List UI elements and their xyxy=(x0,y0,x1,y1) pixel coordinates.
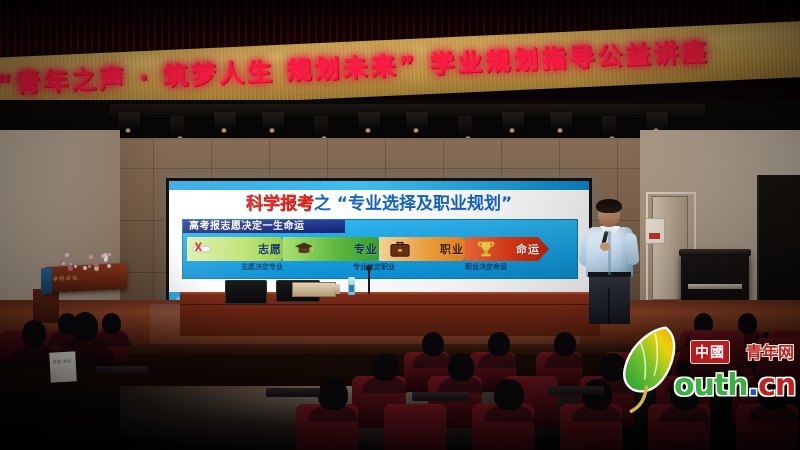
speaker-hair xyxy=(596,199,622,213)
chevron-label: 命运 xyxy=(516,241,540,257)
watermark-latin-cn: cn xyxy=(758,368,795,403)
flower-petal xyxy=(107,264,111,268)
audience-shoulders xyxy=(308,406,358,422)
slide-title-red: 科学报考 xyxy=(246,194,314,214)
stage-light-glow xyxy=(269,128,275,133)
watermark-latin: outh.cn xyxy=(674,368,795,403)
stage-light-fixture xyxy=(550,112,572,129)
gooseneck-microphone-box xyxy=(292,282,336,297)
stage-light-fixture xyxy=(214,112,236,129)
watermark-latin-dot: . xyxy=(748,368,758,403)
water-bottle xyxy=(348,277,355,295)
slide-blue-panel: 高考报志愿决定一生命运 志愿专业职业命运 志愿决定专业专业决定职业职业决定命运 xyxy=(182,219,578,279)
flower-petal xyxy=(62,262,65,265)
stage-light-fixture xyxy=(646,112,668,129)
stage-light-fixture xyxy=(262,112,284,129)
chevron-label: 专业 xyxy=(354,241,378,257)
audience-shoulders xyxy=(438,377,484,393)
chevron-caption: 志愿决定专业 xyxy=(241,262,283,272)
career-step-chevron[interactable]: 专业 xyxy=(283,237,387,261)
watermark-latin-outh: outh xyxy=(674,368,748,403)
piano-keys xyxy=(688,284,742,289)
flower-petal xyxy=(108,253,111,256)
podium-flowers xyxy=(58,252,114,270)
stage-light-glow xyxy=(557,128,563,133)
seat-writing-tablet xyxy=(96,366,148,374)
speaker-trouser-seam xyxy=(608,288,610,324)
seat-writing-tablet xyxy=(548,386,604,395)
stage-light-glow xyxy=(365,128,371,133)
flower-petal xyxy=(83,266,87,270)
graduation-cap-icon xyxy=(293,238,315,260)
speaker-hand xyxy=(600,242,610,251)
flower-petal xyxy=(89,255,93,259)
slide-title-zhi: 之 xyxy=(314,194,331,214)
briefcase-icon xyxy=(389,238,411,260)
trophy-icon xyxy=(475,238,497,260)
chevron-caption: 专业决定职业 xyxy=(353,262,395,272)
slide-title-quoted: “专业选择及职业规划” xyxy=(337,194,512,214)
chevron-label: 志愿 xyxy=(258,241,282,257)
stage-light-glow xyxy=(125,128,131,133)
watermark: 中國 青年网 outh.cn xyxy=(612,318,800,418)
podium-side-accent xyxy=(41,268,52,295)
stage-light-glow xyxy=(413,128,419,133)
handout-text: 讲座 资料 xyxy=(53,359,72,365)
podium-base xyxy=(33,289,59,323)
seat-writing-tablet xyxy=(266,388,320,397)
stage-light-fixture xyxy=(602,116,616,138)
stage-light-fixture xyxy=(314,116,328,138)
career-step-chevron[interactable]: 命运 xyxy=(465,237,549,261)
audience-head xyxy=(22,320,46,347)
lecture-hall-photo: “青年之声 · 筑梦人生 规划未来” 学业规划指导公益讲座 科学报考之 “专业选… xyxy=(0,0,800,450)
chevron-label: 职业 xyxy=(440,241,464,257)
watermark-cn-text: 青年网 xyxy=(746,339,794,363)
career-step-chevron[interactable]: 职业 xyxy=(379,237,473,261)
flower-petal xyxy=(95,263,99,267)
chevron-caption: 职业决定命运 xyxy=(465,262,507,272)
stage-light-fixture xyxy=(502,112,524,129)
flower-petal xyxy=(88,265,91,268)
flower-petal xyxy=(65,253,69,257)
diploma-scroll-icon xyxy=(191,238,213,260)
flower-petal xyxy=(101,254,105,258)
piano-lid xyxy=(679,249,751,256)
stage-light-fixture xyxy=(118,112,140,129)
audience-shoulders xyxy=(478,352,520,368)
watermark-cn-box-text: 中國 xyxy=(695,345,725,361)
laptop-computer xyxy=(225,280,267,304)
slide-title: 科学报考之 “专业选择及职业规划” xyxy=(169,194,589,214)
podium-engraving: 学校讲坛 xyxy=(53,274,79,282)
stage-light-fixture xyxy=(358,112,380,129)
speaker-shirt-placket xyxy=(608,231,611,275)
slide-panel-header: 高考报志愿决定一生命运 xyxy=(183,220,345,233)
audience-shoulders xyxy=(362,377,408,393)
seat-writing-tablet xyxy=(412,392,470,401)
watermark-cn-box: 中國 xyxy=(690,340,730,364)
microphone-stand xyxy=(368,268,370,294)
stage-light-glow xyxy=(509,128,515,133)
career-step-chevron[interactable]: 志愿 xyxy=(187,237,291,261)
slide-top-bar xyxy=(169,181,589,190)
fire-alarm-box-icon xyxy=(645,218,665,244)
stage-light-fixture xyxy=(406,112,428,129)
audience-shoulders xyxy=(544,352,586,368)
career-path-chevrons: 志愿专业职业命运 xyxy=(187,237,573,261)
stage-light-fixture xyxy=(458,116,472,138)
stage-light-glow xyxy=(221,128,227,133)
flower-petal xyxy=(68,265,71,268)
audience-head xyxy=(72,312,98,341)
audience-shoulders xyxy=(484,406,534,422)
paper-cup xyxy=(333,284,340,294)
audience-seat xyxy=(384,404,446,450)
handout-paper: 讲座 资料 xyxy=(49,351,77,382)
flower-petal xyxy=(74,265,77,268)
stage-light-fixture xyxy=(170,116,184,138)
